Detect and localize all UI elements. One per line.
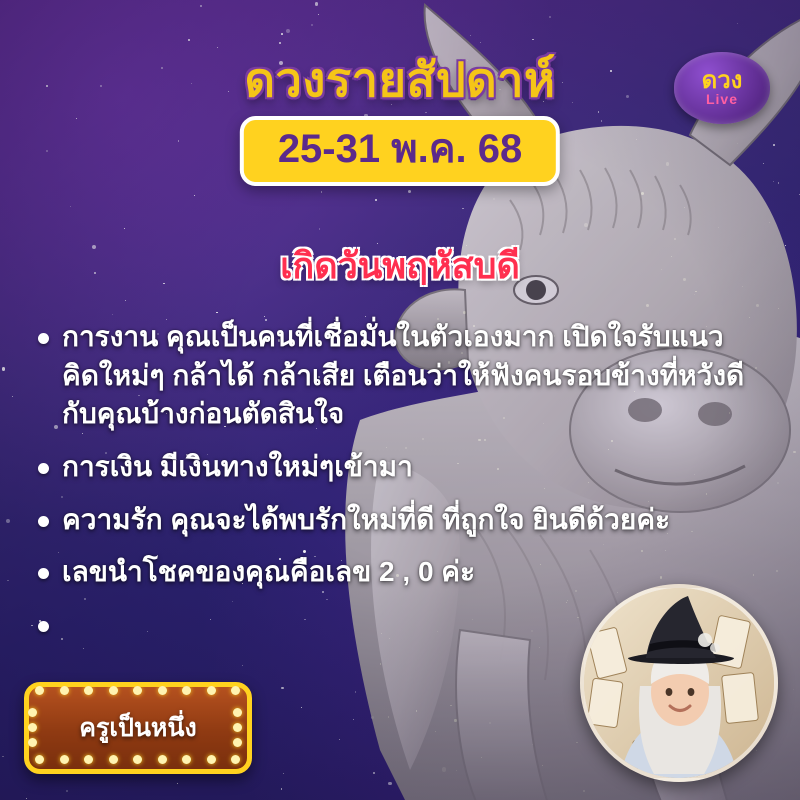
horoscope-card: ดวงรายสัปดาห์ 25-31 พ.ค. 68 เกิดวันพฤหัส… [0,0,800,800]
bullet-icon [38,516,49,527]
bullet-icon [38,621,49,632]
list-item: การเงิน มีเงินทางใหม่ๆเข้ามา [38,448,754,487]
date-range-badge: 25-31 พ.ค. 68 [240,116,560,186]
bullet-icon [38,333,49,344]
author-plaque: ครูเป็นหนึ่ง [24,682,252,774]
brand-logo-line1: ดวง [702,70,743,93]
list-item-text: เลขนำโชคของคุณคือเลข 2 , 0 ค่ะ [62,553,475,592]
list-item: การงาน คุณเป็นคนที่เชื่อมั่นในตัวเองมาก … [38,318,754,434]
list-item: ความรัก คุณจะได้พบรักใหม่ที่ดี ที่ถูกใจ … [38,501,754,540]
date-range-text: 25-31 พ.ค. 68 [278,129,522,169]
list-item-text: การเงิน มีเงินทางใหม่ๆเข้ามา [62,448,413,487]
bullet-icon [38,568,49,579]
brand-logo-line2: Live [706,92,738,106]
page-subtitle: เกิดวันพฤหัสบดี [0,237,800,294]
brand-logo: ดวง Live [674,52,770,124]
author-name: ครูเป็นหนึ่ง [29,687,247,769]
avatar [580,584,778,782]
list-item: เลขนำโชคของคุณคือเลข 2 , 0 ค่ะ [38,553,754,592]
list-item-text: การงาน คุณเป็นคนที่เชื่อมั่นในตัวเองมาก … [62,318,754,434]
list-item-text: ความรัก คุณจะได้พบรักใหม่ที่ดี ที่ถูกใจ … [62,501,670,540]
bullet-icon [38,463,49,474]
